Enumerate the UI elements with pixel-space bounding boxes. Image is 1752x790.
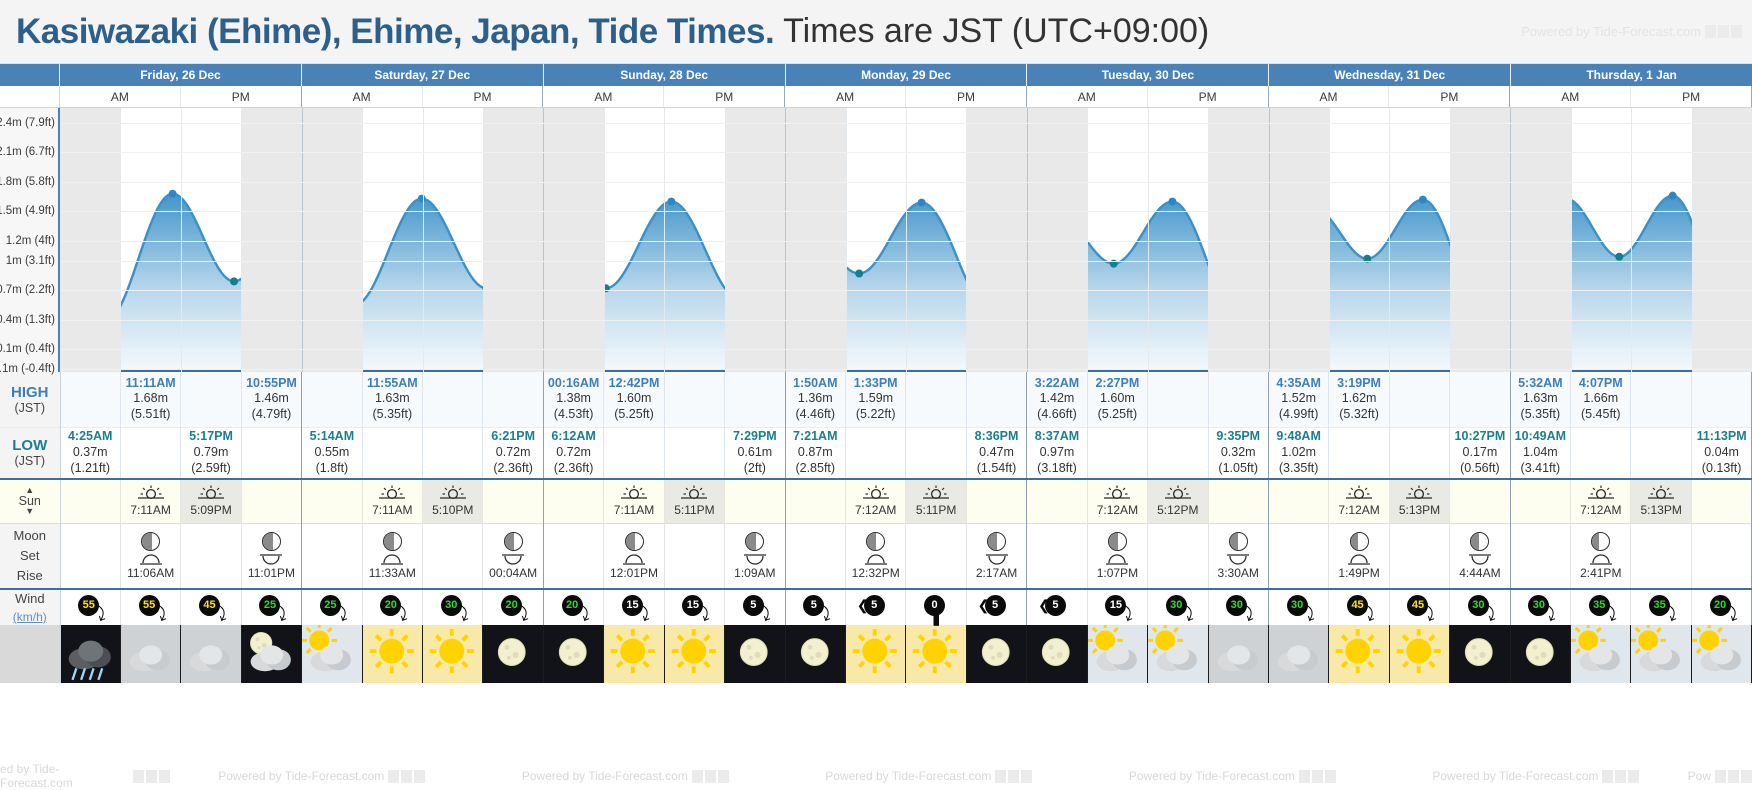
sun-cell-6: 5:10PM [423, 479, 483, 523]
weather-cell-23 [1450, 625, 1510, 683]
tide-chart: 2.4m (7.9ft)2.1m (6.7ft)1.8m (5.8ft)1.5m… [0, 108, 1752, 372]
low-tide-time: 7:29PM [725, 429, 784, 445]
low-tide-cell-1 [120, 427, 180, 479]
sunrise-icon [1088, 485, 1147, 503]
sunny-icon [604, 625, 663, 683]
sunset-icon [665, 485, 724, 503]
y-axis-tick-9: -0.1m (-0.4ft) [0, 363, 55, 375]
cloudy-icon [181, 625, 240, 683]
low-tide-cell-16: 8:37AM0.97m(3.18ft) [1027, 427, 1087, 479]
low-tide-time: 6:21PM [483, 429, 542, 445]
wind-badge: 20⤵ [559, 595, 589, 621]
page-footer: ed by Tide-Forecast.comPowered by Tide-F… [0, 765, 1752, 787]
moon-phase-icon [1229, 532, 1248, 551]
y-axis-tick-6: 0.7m (2.2ft) [0, 284, 55, 296]
moon-phase-icon [262, 532, 281, 551]
chart-hgrid-3 [60, 211, 1752, 212]
moon-cell-8 [543, 523, 603, 589]
low-tide-cell-7: 6:21PM0.72m(2.36ft) [483, 427, 543, 479]
moon-cell-21: 1:49PM [1329, 523, 1389, 589]
sunset-icon [906, 485, 965, 503]
weather-cell-21 [1329, 625, 1389, 683]
low-tide-cell-4: 5:14AM0.55m(1.8ft) [302, 427, 362, 479]
sunny-icon [423, 625, 482, 683]
tide-high-marker-1 [169, 190, 177, 198]
high-tide-cell-5: 11:55AM1.63m(5.35ft) [362, 372, 422, 427]
moon-row-label: Moon Set Rise [0, 523, 60, 589]
high-tide-cell-25: 4:07PM1.66m(5.45ft) [1571, 372, 1631, 427]
moon-phase-icon [987, 532, 1006, 551]
sunrise-arrow-icon: ▲ [0, 487, 60, 494]
wind-badge: 15⤵ [679, 595, 709, 621]
partly-cloudy-icon [302, 625, 361, 683]
weather-cell-0 [60, 625, 120, 683]
high-tide-cell-19 [1208, 372, 1268, 427]
sun-cell-26: 5:13PM [1631, 479, 1691, 523]
sunset-icon [1631, 485, 1690, 503]
moon-phase-icon [1470, 532, 1489, 551]
page-title: Kasiwazaki (Ehime), Ehime, Japan, Tide T… [16, 12, 774, 52]
sun-cell-24 [1510, 479, 1570, 523]
low-tide-feet: (2.36ft) [544, 461, 603, 477]
high-tide-feet: (5.35ft) [1511, 407, 1570, 423]
weather-cell-4 [302, 625, 362, 683]
wind-cell-13: 5❮ [845, 589, 905, 625]
low-tide-time: 10:49AM [1511, 429, 1570, 445]
low-tide-cell-25 [1571, 427, 1631, 479]
high-tide-time: 4:07PM [1571, 376, 1630, 392]
chart-hgrid-8 [60, 349, 1752, 350]
moon-cell-9: 12:01PM [604, 523, 664, 589]
sunny-icon [1390, 625, 1449, 683]
wind-cell-18: 30⤵ [1148, 589, 1208, 625]
low-tide-cell-17 [1087, 427, 1147, 479]
footer-credit-1: Powered by Tide-Forecast.com [170, 769, 474, 783]
moon-cell-6 [423, 523, 483, 589]
weather-cell-6 [423, 625, 483, 683]
high-tide-feet: (4.46ft) [786, 407, 845, 423]
wind-cell-7: 20⤵ [483, 589, 543, 625]
moon-phase-icon [504, 532, 523, 551]
high-tide-feet: (4.66ft) [1027, 407, 1086, 423]
weather-row [0, 625, 1752, 683]
weather-cell-13 [845, 625, 905, 683]
high-tide-feet: (4.53ft) [544, 407, 603, 423]
weather-cell-17 [1087, 625, 1147, 683]
low-tide-cell-3 [241, 427, 301, 479]
moon-phase-icon [745, 532, 764, 551]
clear-night-icon [725, 625, 784, 683]
footer-credit-0: ed by Tide-Forecast.com [0, 762, 170, 790]
low-tide-feet: (3.41ft) [1511, 461, 1570, 477]
high-tide-cell-24: 5:32AM1.63m(5.35ft) [1510, 372, 1570, 427]
halfday-pm-11: PM [1389, 86, 1510, 107]
moon-rise-icon [725, 554, 784, 566]
wind-badge: 5❮ [1042, 595, 1072, 621]
high-tide-cell-7 [483, 372, 543, 427]
sun-time: 5:13PM [1390, 503, 1449, 517]
low-label: LOW [0, 437, 60, 454]
sun-cell-2: 5:09PM [181, 479, 241, 523]
moon-rise-time: 11:01PM [242, 566, 301, 580]
sun-cell-3 [241, 479, 301, 523]
halfday-am-0: AM [60, 86, 181, 107]
partly-cloudy-icon [1148, 625, 1207, 683]
low-tide-cell-18 [1148, 427, 1208, 479]
halfday-pm-5: PM [664, 86, 785, 107]
tide-data-table: HIGH (JST) 11:11AM1.68m(5.51ft)10:55PM1.… [0, 372, 1752, 683]
y-axis-tick-0: 2.4m (7.9ft) [0, 117, 55, 129]
high-tide-row-label: HIGH (JST) [0, 372, 60, 427]
cloudy-icon [1209, 625, 1268, 683]
chart-hgrid-6 [60, 290, 1752, 291]
sun-cell-18: 5:12PM [1148, 479, 1208, 523]
sunrise-icon [846, 485, 905, 503]
tide-high-marker-13 [918, 199, 926, 207]
high-tide-time: 11:11AM [121, 376, 180, 392]
low-tide-cell-6 [423, 427, 483, 479]
flags-icon [1602, 770, 1639, 783]
high-tide-feet: (5.25ft) [604, 407, 663, 423]
high-tide-cell-6 [423, 372, 483, 427]
moon-cell-22 [1389, 523, 1449, 589]
moon-rise-time: 4:44AM [1450, 566, 1509, 580]
wind-badge: 35⤵ [1586, 595, 1616, 621]
wind-badge: 15⤵ [619, 595, 649, 621]
sunrise-icon [363, 485, 422, 503]
high-tide-cell-23 [1450, 372, 1510, 427]
weather-cell-22 [1389, 625, 1449, 683]
day-header-6: Thursday, 1 Jan [1511, 64, 1752, 86]
high-tide-cell-17: 2:27PM1.60m(5.25ft) [1087, 372, 1147, 427]
wind-row-label: Wind (km/h) [0, 589, 60, 625]
high-tide-cell-8: 00:16AM1.38m(4.53ft) [543, 372, 603, 427]
halfday-pm-9: PM [1148, 86, 1269, 107]
clear-night-icon [1511, 625, 1570, 683]
high-tide-cell-2 [181, 372, 241, 427]
partly-cloudy-icon [1571, 625, 1630, 683]
weather-cell-24 [1510, 625, 1570, 683]
wind-cell-10: 15⤵ [664, 589, 724, 625]
sun-time: 5:13PM [1631, 503, 1690, 517]
halfday-am-4: AM [543, 86, 664, 107]
moon-set-time: 12:32PM [846, 566, 905, 580]
moon-phase-icon [625, 532, 644, 551]
moon-rise-time: 2:17AM [967, 566, 1026, 580]
low-tide-row-label: LOW (JST) [0, 427, 60, 479]
weather-cell-10 [664, 625, 724, 683]
moon-phase-icon [866, 532, 885, 551]
moon-cell-14 [906, 523, 966, 589]
wind-badge: 30⤵ [1163, 595, 1193, 621]
sun-cell-15 [966, 479, 1026, 523]
wind-cell-21: 45⤵ [1329, 589, 1389, 625]
low-tide-cell-24: 10:49AM1.04m(3.41ft) [1510, 427, 1570, 479]
moon-row: Moon Set Rise 11:06AM11:01PM11:33AM00:04… [0, 523, 1752, 589]
high-tide-meters: 1.63m [363, 391, 422, 407]
low-tide-cell-5 [362, 427, 422, 479]
high-tide-cell-12: 1:50AM1.36m(4.46ft) [785, 372, 845, 427]
wind-cell-20: 30⤵ [1268, 589, 1328, 625]
wind-cell-16: 5❮ [1027, 589, 1087, 625]
low-tide-meters: 0.17m [1450, 445, 1509, 461]
wind-badge: 30⤵ [1223, 595, 1253, 621]
weather-cell-16 [1027, 625, 1087, 683]
wind-cell-24: 30⤵ [1510, 589, 1570, 625]
sunrise-icon [604, 485, 663, 503]
low-tide-meters: 0.79m [181, 445, 240, 461]
high-tide-cell-22 [1389, 372, 1449, 427]
low-tide-cell-2: 5:17PM0.79m(2.59ft) [181, 427, 241, 479]
chart-hgrid-0 [60, 123, 1752, 124]
clear-night-icon [483, 625, 542, 683]
chart-hgrid-9 [60, 369, 1752, 370]
flags-icon [1705, 25, 1742, 38]
chart-plot-area [60, 108, 1752, 372]
high-tide-feet: (4.99ft) [1269, 407, 1328, 423]
high-tide-meters: 1.59m [846, 391, 905, 407]
weather-cell-25 [1571, 625, 1631, 683]
flags-icon [1715, 770, 1752, 783]
high-tide-meters: 1.36m [786, 391, 845, 407]
low-tide-feet: (1.05ft) [1209, 461, 1268, 477]
high-tide-time: 10:55PM [242, 376, 301, 392]
weather-row-label [0, 625, 60, 683]
high-tide-time: 1:33PM [846, 376, 905, 392]
sun-cell-8 [543, 479, 603, 523]
moon-cell-23: 4:44AM [1450, 523, 1510, 589]
high-tide-cell-0 [60, 372, 120, 427]
sunset-arrow-icon: ▼ [0, 508, 60, 515]
high-tide-meters: 1.66m [1571, 391, 1630, 407]
low-tide-cell-19: 9:35PM0.32m(1.05ft) [1208, 427, 1268, 479]
weather-cell-27 [1691, 625, 1751, 683]
moon-cell-20 [1268, 523, 1328, 589]
weather-cell-8 [543, 625, 603, 683]
sunset-icon [423, 485, 482, 503]
high-tide-cell-11 [725, 372, 785, 427]
low-tide-feet: (2.59ft) [181, 461, 240, 477]
high-tide-meters: 1.60m [1088, 391, 1147, 407]
sun-time: 5:12PM [1148, 503, 1207, 517]
low-tide-cell-10 [664, 427, 724, 479]
sunset-icon [1390, 485, 1449, 503]
wind-badge: 55⤵ [75, 595, 105, 621]
day-header-1: Saturday, 27 Dec [302, 64, 544, 86]
day-header-5: Wednesday, 31 Dec [1269, 64, 1511, 86]
low-tide-time: 10:27PM [1450, 429, 1509, 445]
low-tide-cell-21 [1329, 427, 1389, 479]
high-tide-cell-3: 10:55PM1.46m(4.79ft) [241, 372, 301, 427]
powered-by-header: Powered by Tide-Forecast.com [1521, 24, 1742, 39]
sun-cell-20 [1268, 479, 1328, 523]
moon-set-icon [121, 554, 180, 566]
flags-icon [692, 770, 729, 783]
high-tide-cell-18 [1148, 372, 1208, 427]
wind-cell-19: 30⤵ [1208, 589, 1268, 625]
low-tide-meters: 0.04m [1692, 445, 1751, 461]
high-tide-feet: (5.35ft) [363, 407, 422, 423]
moon-cell-5: 11:33AM [362, 523, 422, 589]
moon-set-icon [846, 554, 905, 566]
high-tide-meters: 1.42m [1027, 391, 1086, 407]
wind-badge: 5⤵ [800, 595, 830, 621]
high-tide-feet: (4.79ft) [242, 407, 301, 423]
clear-night-icon [544, 625, 603, 683]
low-tide-time: 9:35PM [1209, 429, 1268, 445]
moon-rise-time: 3:30AM [1209, 566, 1268, 580]
sun-cell-23 [1450, 479, 1510, 523]
tide-low-marker-24 [1615, 253, 1623, 261]
low-tide-feet: (3.35ft) [1269, 461, 1328, 477]
low-tide-cell-0: 4:25AM0.37m(1.21ft) [60, 427, 120, 479]
low-tide-meters: 0.72m [483, 445, 542, 461]
wind-badge: 30⤵ [1525, 595, 1555, 621]
sunrise-icon [1571, 485, 1630, 503]
weather-cell-7 [483, 625, 543, 683]
low-tide-time: 7:21AM [786, 429, 845, 445]
moon-rise-icon [1450, 554, 1509, 566]
sunrise-icon [121, 485, 180, 503]
weather-cell-20 [1268, 625, 1328, 683]
low-tide-meters: 0.97m [1027, 445, 1086, 461]
clear-night-icon [1027, 625, 1086, 683]
wind-badge: 25⤵ [256, 595, 286, 621]
sun-cell-10: 5:11PM [664, 479, 724, 523]
partly-cloudy-icon [1631, 625, 1690, 683]
sun-cell-9: 7:11AM [604, 479, 664, 523]
moonrise-label: Rise [0, 566, 60, 586]
moon-rise-icon [967, 554, 1026, 566]
sun-cell-11 [725, 479, 785, 523]
halfday-am-10: AM [1269, 86, 1390, 107]
high-tide-time: 4:35AM [1269, 376, 1328, 392]
low-tide-meters: 0.72m [544, 445, 603, 461]
low-tide-meters: 0.32m [1209, 445, 1268, 461]
moonset-label: Set [0, 546, 60, 566]
low-tide-time: 6:12AM [544, 429, 603, 445]
chart-hgrid-1 [60, 152, 1752, 153]
high-tide-feet: (5.22ft) [846, 407, 905, 423]
wind-cell-9: 15⤵ [604, 589, 664, 625]
wind-cell-26: 35⤵ [1631, 589, 1691, 625]
day-header-3: Monday, 29 Dec [786, 64, 1028, 86]
wind-cell-11: 5⤵ [725, 589, 785, 625]
sun-cell-22: 5:13PM [1389, 479, 1449, 523]
moon-cell-24 [1510, 523, 1570, 589]
moon-set-time: 1:49PM [1329, 566, 1388, 580]
high-tide-cell-16: 3:22AM1.42m(4.66ft) [1027, 372, 1087, 427]
wind-badge: 45⤵ [196, 595, 226, 621]
low-tide-cell-8: 6:12AM0.72m(2.36ft) [543, 427, 603, 479]
wind-cell-4: 25⤵ [302, 589, 362, 625]
halfday-am-12: AM [1510, 86, 1631, 107]
low-tide-meters: 0.87m [786, 445, 845, 461]
flags-icon [1299, 770, 1336, 783]
sun-cell-16 [1027, 479, 1087, 523]
sun-time: 7:12AM [846, 503, 905, 517]
high-tide-time: 2:27PM [1088, 376, 1147, 392]
high-tide-time: 3:22AM [1027, 376, 1086, 392]
wind-badge: 35⤵ [1646, 595, 1676, 621]
moon-cell-3: 11:01PM [241, 523, 301, 589]
wind-cell-17: 15⤵ [1087, 589, 1147, 625]
halfday-am-8: AM [1027, 86, 1148, 107]
high-tide-time: 00:16AM [544, 376, 603, 392]
wind-badge: 15⤵ [1102, 595, 1132, 621]
moon-cell-1: 11:06AM [120, 523, 180, 589]
moon-set-icon [1088, 554, 1147, 566]
high-tide-meters: 1.63m [1511, 391, 1570, 407]
high-tide-cell-27 [1691, 372, 1751, 427]
moon-cell-16 [1027, 523, 1087, 589]
low-tide-time: 8:37AM [1027, 429, 1086, 445]
footer-credit-4: Powered by Tide-Forecast.com [1081, 769, 1385, 783]
moon-cell-18 [1148, 523, 1208, 589]
flags-icon [995, 770, 1032, 783]
wind-badge: 0▮ [921, 595, 951, 621]
wind-cell-25: 35⤵ [1571, 589, 1631, 625]
moon-cell-10 [664, 523, 724, 589]
halfday-pm-13: PM [1631, 86, 1752, 107]
sun-cell-17: 7:12AM [1087, 479, 1147, 523]
footer-credit-3: Powered by Tide-Forecast.com [777, 769, 1081, 783]
high-label: HIGH [0, 384, 60, 401]
wind-cell-27: 20⤵ [1691, 589, 1751, 625]
day-header-row: Friday, 26 DecSaturday, 27 DecSunday, 28… [0, 64, 1752, 86]
wind-badge: 55⤵ [136, 595, 166, 621]
moon-set-time: 12:01PM [604, 566, 663, 580]
wind-cell-8: 20⤵ [543, 589, 603, 625]
sun-time: 7:11AM [604, 503, 663, 517]
tide-high-marker-21 [1419, 196, 1427, 204]
powered-by-text: Powered by Tide-Forecast.com [1521, 24, 1701, 39]
wind-badge: 45⤵ [1404, 595, 1434, 621]
moon-cell-17: 1:07PM [1087, 523, 1147, 589]
sun-time: 5:11PM [665, 503, 724, 517]
low-tide-cell-23: 10:27PM0.17m(0.56ft) [1450, 427, 1510, 479]
wind-cell-5: 20⤵ [362, 589, 422, 625]
tide-high-marker-17 [1168, 198, 1176, 206]
moon-rise-icon [1209, 554, 1268, 566]
moon-phase-icon [1591, 532, 1610, 551]
low-tide-feet: (2ft) [725, 461, 784, 477]
flags-icon [133, 770, 170, 783]
wind-unit-link[interactable]: (km/h) [13, 610, 47, 624]
weather-cell-19 [1208, 625, 1268, 683]
y-axis-tick-1: 2.1m (6.7ft) [0, 146, 55, 158]
moon-rise-time: 1:09AM [725, 566, 784, 580]
wind-badge: 30⤵ [438, 595, 468, 621]
day-header-2: Sunday, 28 Dec [544, 64, 786, 86]
high-tz-label: (JST) [0, 401, 60, 415]
high-tide-feet: (5.25ft) [1088, 407, 1147, 423]
moon-cell-0 [60, 523, 120, 589]
partly-cloudy-icon [1088, 625, 1147, 683]
low-tide-time: 5:17PM [181, 429, 240, 445]
footer-credit-5: Powered by Tide-Forecast.com [1384, 769, 1688, 783]
low-tide-feet: (0.56ft) [1450, 461, 1509, 477]
chart-hgrid-7 [60, 320, 1752, 321]
y-axis-tick-8: 0.1m (0.4ft) [0, 343, 55, 355]
sun-time: 5:11PM [906, 503, 965, 517]
moon-set-icon [363, 554, 422, 566]
weather-cell-1 [120, 625, 180, 683]
high-tide-cell-14 [906, 372, 966, 427]
moon-cell-2 [181, 523, 241, 589]
low-tide-cell-26 [1631, 427, 1691, 479]
wind-badge: 30⤵ [1465, 595, 1495, 621]
